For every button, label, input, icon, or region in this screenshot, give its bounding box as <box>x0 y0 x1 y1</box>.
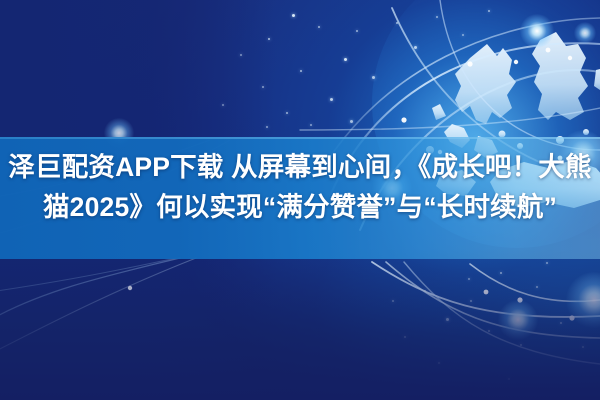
headline-text: 泽巨配资APP下载 从屏幕到心间，《成长吧！大熊 猫2025》何以实现“满分赞誉… <box>0 147 600 227</box>
band-top-edge <box>0 137 600 139</box>
banner-image: 泽巨配资APP下载 从屏幕到心间，《成长吧！大熊 猫2025》何以实现“满分赞誉… <box>0 0 600 400</box>
headline-line-2: 猫2025》何以实现“满分赞誉”与“长时续航” <box>0 187 600 227</box>
background-bottom-shade <box>0 248 600 400</box>
headline-line-1: 泽巨配资APP下载 从屏幕到心间，《成长吧！大熊 <box>0 147 600 187</box>
